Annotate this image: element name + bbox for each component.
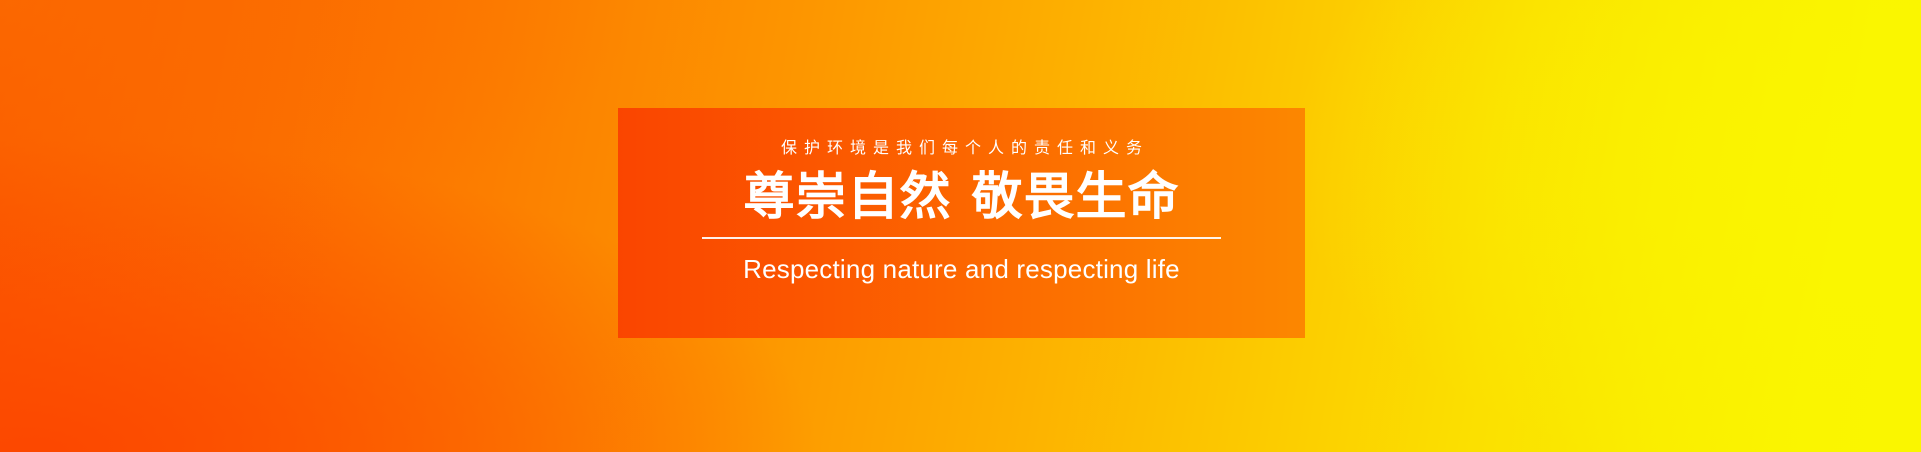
headline-phrase-second: 敬畏生命: [972, 168, 1180, 225]
eco-banner: 保护环境是我们每个人的责任和义务 尊崇自然敬畏生命 Respecting nat…: [0, 0, 1921, 452]
headline-phrase-first: 尊崇自然: [743, 168, 951, 225]
panel-headline: 尊崇自然敬畏生命: [743, 168, 1179, 226]
slogan-panel: 保护环境是我们每个人的责任和义务 尊崇自然敬畏生命 Respecting nat…: [618, 108, 1305, 338]
panel-subtitle: 保护环境是我们每个人的责任和义务: [774, 139, 1149, 159]
headline-divider: [702, 237, 1221, 239]
panel-tagline-english: Respecting nature and respecting life: [743, 253, 1180, 285]
